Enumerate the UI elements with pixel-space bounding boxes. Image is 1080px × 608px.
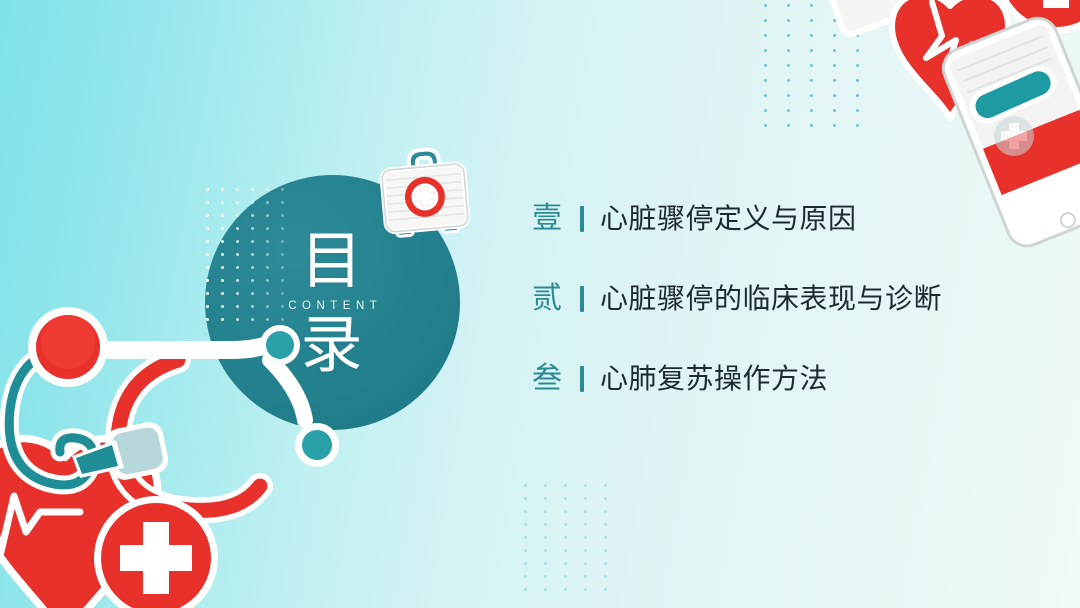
toc-item-1-separator [580, 206, 584, 232]
toc-list: 壹 心脏骤停定义与原因 贰 心脏骤停的临床表现与诊断 叁 心肺复苏操作方法 [532, 196, 1002, 402]
top-right-medical-art [800, 0, 1080, 210]
toc-item-2[interactable]: 贰 心脏骤停的临床表现与诊断 [532, 276, 1002, 322]
toc-item-3-separator [580, 366, 584, 392]
toc-item-2-label: 心脏骤停的临床表现与诊断 [600, 285, 942, 313]
toc-item-3-label: 心肺复苏操作方法 [600, 365, 828, 393]
dot-grid-bottom [524, 484, 616, 596]
title-cn-bottom: 录 [300, 314, 364, 376]
toc-item-3[interactable]: 叁 心肺复苏操作方法 [532, 356, 1002, 402]
slide-canvas: 目 CONTENT 录 [0, 0, 1080, 608]
toc-item-2-number: 贰 [532, 284, 576, 314]
first-aid-kit-icon [372, 140, 476, 248]
title-cn-top: 目 [300, 230, 364, 292]
small-cross-icon [994, 116, 1034, 156]
toc-item-1-number: 壹 [532, 204, 576, 234]
red-disc-icon [28, 307, 108, 387]
toc-item-2-separator [580, 286, 584, 312]
toc-item-3-number: 叁 [532, 364, 576, 394]
